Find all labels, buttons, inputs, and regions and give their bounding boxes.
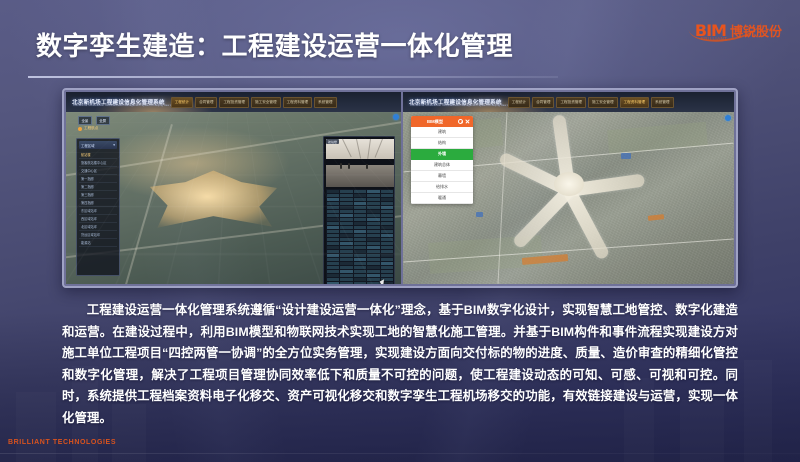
table-cell <box>340 250 352 253</box>
table-cell <box>354 230 366 233</box>
table-row <box>327 206 393 209</box>
bim-item-6[interactable]: 暖通 <box>411 193 473 204</box>
table-cell <box>367 246 379 249</box>
bim-item-1[interactable]: 结构 <box>411 138 473 149</box>
table-cell <box>381 274 393 277</box>
table-cell <box>327 222 339 225</box>
app-subtitle: The BIM for Construction Informatization… <box>73 104 178 107</box>
table-cell <box>367 194 379 197</box>
table-cell <box>354 222 366 225</box>
table-cell <box>327 254 339 257</box>
table-row <box>327 250 393 253</box>
table-cell <box>354 254 366 257</box>
data-table[interactable] <box>326 189 394 284</box>
tree-item-6[interactable]: 第四指廊 <box>79 199 117 207</box>
table-cell <box>354 266 366 269</box>
table-cell <box>354 250 366 253</box>
screenshot-right[interactable]: BIM模型 建筑结构外墙建筑总体幕墙给排水暖通 北京新机场工程建设信息化管理系统… <box>403 92 734 284</box>
table-cell <box>381 238 393 241</box>
table-cell <box>327 210 339 213</box>
tree-header: 工程区域 ▾ <box>79 141 117 149</box>
table-row <box>327 210 393 213</box>
table-cell <box>367 230 379 233</box>
table-cell <box>327 282 339 284</box>
table-cell <box>367 278 379 281</box>
table-cell <box>381 226 393 229</box>
table-cell <box>340 246 352 249</box>
table-cell <box>367 282 379 284</box>
table-cell <box>381 262 393 265</box>
table-cell <box>381 194 393 197</box>
table-cell <box>367 190 379 193</box>
chevron-down-icon[interactable]: ▾ <box>113 143 115 147</box>
table-cell <box>340 198 352 201</box>
table-cell <box>367 262 379 265</box>
table-cell <box>340 258 352 261</box>
table-row <box>327 234 393 237</box>
table-cell <box>327 226 339 229</box>
settings-icon[interactable] <box>725 115 731 121</box>
table-cell <box>354 226 366 229</box>
search-icon[interactable] <box>458 119 463 124</box>
table-cell <box>327 218 339 221</box>
table-cell <box>354 214 366 217</box>
table-cell <box>327 242 339 245</box>
table-cell <box>367 254 379 257</box>
table-cell <box>340 254 352 257</box>
table-cell <box>327 202 339 205</box>
table-row <box>327 246 393 249</box>
table-cell <box>354 270 366 273</box>
screenshot-stage: 全景 全屏 工程航点 工程区域 ▾ 航站楼旅客航站楼中心区交通中心区第一指廊第二… <box>62 88 738 288</box>
table-cell <box>381 258 393 261</box>
table-cell <box>381 198 393 201</box>
nav-item-4[interactable]: 工程资料管理 <box>620 97 650 108</box>
nav-item-5[interactable]: 系统管理 <box>314 97 336 108</box>
tree-item-9[interactable]: 北区域站坪 <box>79 223 117 231</box>
table-row <box>327 226 393 229</box>
viewport-toolbar[interactable]: 全景 全屏 <box>78 116 110 125</box>
table-cell <box>367 266 379 269</box>
table-row <box>327 238 393 241</box>
table-row <box>327 202 393 205</box>
table-cell <box>340 262 352 265</box>
tree-item-2[interactable]: 交通中心区 <box>79 167 117 175</box>
body-paragraph: 工程建设运营一体化管理系统遵循“设计建设运营一体化”理念，基于BIM数字化设计，… <box>62 300 738 429</box>
floor <box>326 165 394 187</box>
nav-item-1[interactable]: 合同管理 <box>195 97 217 108</box>
table-cell <box>327 274 339 277</box>
table-cell <box>367 198 379 201</box>
table-cell <box>381 230 393 233</box>
tree-item-3[interactable]: 第一指廊 <box>79 175 117 183</box>
table-cell <box>354 282 366 284</box>
table-cell <box>327 230 339 233</box>
table-cell <box>340 278 352 281</box>
tree-header-label: 工程区域 <box>81 143 95 148</box>
table-cell <box>354 238 366 241</box>
table-row <box>327 198 393 201</box>
table-row <box>327 262 393 265</box>
table-cell <box>340 202 352 205</box>
footer-divider <box>0 453 800 454</box>
nav-item-0[interactable]: 工程统计 <box>508 97 530 108</box>
slide-root: 数字孪生建造：工程建设运营一体化管理 BIM 博锐股份 BRILLIANT 全景… <box>0 0 800 462</box>
table-cell <box>367 258 379 261</box>
bim-panel-title: BIM模型 <box>414 119 456 125</box>
nav-item-5[interactable]: 系统管理 <box>651 97 673 108</box>
toolbar-button[interactable]: 全景 <box>78 116 92 125</box>
table-cell <box>340 210 352 213</box>
table-cell <box>340 282 352 284</box>
table-cell <box>340 222 352 225</box>
tree-item-0[interactable]: 航站楼 <box>79 151 117 159</box>
table-cell <box>367 214 379 217</box>
app-nav-left[interactable]: 工程统计合同管理工程投资管理施工安全管理工程资料管理系统管理 <box>171 97 337 108</box>
tree-item-1[interactable]: 旅客航站楼中心区 <box>79 159 117 167</box>
table-cell <box>367 238 379 241</box>
bim-item-4[interactable]: 幕墙 <box>411 171 473 182</box>
tree-item-10[interactable]: 货运区域站坪 <box>79 231 117 239</box>
table-cell <box>354 262 366 265</box>
table-cell <box>354 210 366 213</box>
table-cell <box>354 206 366 209</box>
tree-item-5[interactable]: 第三指廊 <box>79 191 117 199</box>
table-cell <box>354 274 366 277</box>
table-cell <box>340 238 352 241</box>
table-cell <box>340 218 352 221</box>
table-cell <box>354 234 366 237</box>
table-row <box>327 218 393 221</box>
table-cell <box>367 274 379 277</box>
table-cell <box>367 270 379 273</box>
model-3d-viewport[interactable]: 全景 全屏 工程航点 工程区域 ▾ 航站楼旅客航站楼中心区交通中心区第一指廊第二… <box>66 112 401 284</box>
table-cell <box>327 190 339 193</box>
title-divider <box>28 76 558 78</box>
table-cell <box>354 198 366 201</box>
table-cell <box>340 230 352 233</box>
toolbar-button[interactable]: 全屏 <box>96 116 110 125</box>
table-cell <box>381 206 393 209</box>
table-cell <box>367 206 379 209</box>
table-cell <box>340 242 352 245</box>
table-cell <box>327 206 339 209</box>
table-cell <box>367 218 379 221</box>
table-cell <box>354 202 366 205</box>
table-cell <box>340 266 352 269</box>
table-cell <box>327 194 339 197</box>
table-cell <box>340 226 352 229</box>
table-row <box>327 222 393 225</box>
table-cell <box>327 266 339 269</box>
project-tree-panel[interactable]: 工程区域 ▾ 航站楼旅客航站楼中心区交通中心区第一指廊第二指廊第三指廊第四指廊东… <box>76 138 120 276</box>
table-cell <box>381 270 393 273</box>
table-row <box>327 190 393 193</box>
table-cell <box>354 258 366 261</box>
tree-item-8[interactable]: 西区域站坪 <box>79 215 117 223</box>
table-cell <box>327 214 339 217</box>
table-cell <box>381 246 393 249</box>
table-cell <box>367 226 379 229</box>
location-pin-icon <box>78 127 82 131</box>
bim-item-0[interactable]: 建筑 <box>411 127 473 138</box>
table-row <box>327 194 393 197</box>
table-cell <box>327 262 339 265</box>
nav-item-2[interactable]: 工程投资管理 <box>219 97 249 108</box>
bim-panel-header: BIM模型 <box>411 116 473 127</box>
table-cell <box>327 234 339 237</box>
table-cell <box>381 234 393 237</box>
nav-item-4[interactable]: 工程资料管理 <box>283 97 313 108</box>
table-cell <box>381 202 393 205</box>
table-cell <box>327 278 339 281</box>
camera-data-dock[interactable]: 航站楼 <box>323 136 395 284</box>
table-cell <box>381 190 393 193</box>
app-header-left: 北京新机场工程建设信息化管理系统 The BIM for Constructio… <box>66 92 401 112</box>
table-cell <box>381 210 393 213</box>
table-cell <box>354 218 366 221</box>
table-cell <box>340 194 352 197</box>
app-header-right: 北京新机场工程建设信息化管理系统 The BIM for Constructio… <box>403 92 734 112</box>
table-cell <box>381 222 393 225</box>
brand-tagline: BRILLIANT <box>701 36 727 41</box>
table-row <box>327 270 393 273</box>
brand-logo: BIM 博锐股份 BRILLIANT <box>695 16 782 44</box>
table-row <box>327 242 393 245</box>
table-cell <box>367 234 379 237</box>
slide-header: 数字孪生建造：工程建设运营一体化管理 BIM 博锐股份 BRILLIANT <box>0 0 800 84</box>
table-row <box>327 214 393 217</box>
tree-list[interactable]: 航站楼旅客航站楼中心区交通中心区第一指廊第二指廊第三指廊第四指廊东区域站坪西区域… <box>79 151 117 247</box>
nav-item-2[interactable]: 工程投资管理 <box>556 97 586 108</box>
table-cell <box>381 214 393 217</box>
table-cell <box>367 222 379 225</box>
table-row <box>327 258 393 261</box>
table-cell <box>381 266 393 269</box>
body-paragraph-block: 工程建设运营一体化管理系统遵循“设计建设运营一体化”理念，基于BIM数字化设计，… <box>62 300 738 429</box>
table-cell <box>327 270 339 273</box>
table-cell <box>340 206 352 209</box>
table-cell <box>354 194 366 197</box>
tree-item-11[interactable]: 能源站 <box>79 239 117 247</box>
table-cell <box>367 210 379 213</box>
app-subtitle: The BIM for Construction Informatization… <box>410 104 515 107</box>
nav-item-0[interactable]: 工程统计 <box>171 97 193 108</box>
table-row <box>327 274 393 277</box>
table-cell <box>327 238 339 241</box>
table-cell <box>340 274 352 277</box>
bim-model-list[interactable]: 建筑结构外墙建筑总体幕墙给排水暖通 <box>411 127 473 204</box>
table-cell <box>381 250 393 253</box>
table-cell <box>327 250 339 253</box>
table-cell <box>327 198 339 201</box>
table-cell <box>340 214 352 217</box>
nav-item-3[interactable]: 施工安全管理 <box>588 97 618 108</box>
bim-item-5[interactable]: 给排水 <box>411 182 473 193</box>
bim-model-panel[interactable]: BIM模型 建筑结构外墙建筑总体幕墙给排水暖通 <box>411 116 473 204</box>
bim-item-3[interactable]: 建筑总体 <box>411 160 473 171</box>
nav-item-1[interactable]: 合同管理 <box>532 97 554 108</box>
breadcrumb: 工程航点 <box>78 126 98 131</box>
table-row <box>327 266 393 269</box>
table-cell <box>327 246 339 249</box>
table-cell <box>367 242 379 245</box>
table-row <box>327 254 393 257</box>
settings-icon[interactable] <box>393 114 399 120</box>
close-icon[interactable] <box>465 119 470 124</box>
table-cell <box>354 246 366 249</box>
table-cell <box>381 242 393 245</box>
screenshot-left[interactable]: 全景 全屏 工程航点 工程区域 ▾ 航站楼旅客航站楼中心区交通中心区第一指廊第二… <box>66 92 401 284</box>
table-cell <box>354 278 366 281</box>
camera-feed[interactable] <box>326 139 394 187</box>
table-cell <box>367 202 379 205</box>
footer-watermark: BRILLIANT TECHNOLOGIES <box>8 439 116 446</box>
app-nav-right[interactable]: 工程统计合同管理工程投资管理施工安全管理工程资料管理系统管理 <box>508 97 674 108</box>
tree-item-7[interactable]: 东区域站坪 <box>79 207 117 215</box>
page-title: 数字孪生建造：工程建设运营一体化管理 <box>36 26 513 63</box>
table-cell <box>340 234 352 237</box>
camera-label: 航站楼 <box>326 139 339 144</box>
table-cell <box>340 190 352 193</box>
tree-item-4[interactable]: 第二指廊 <box>79 183 117 191</box>
table-row <box>327 230 393 233</box>
breadcrumb-label: 工程航点 <box>84 126 98 131</box>
table-cell <box>340 270 352 273</box>
brand-name: 博锐股份 <box>730 21 782 40</box>
table-cell <box>381 218 393 221</box>
airport-terminal-satellite <box>489 134 649 234</box>
table-cell <box>367 250 379 253</box>
table-cell <box>381 254 393 257</box>
nav-item-3[interactable]: 施工安全管理 <box>251 97 281 108</box>
table-cell <box>354 242 366 245</box>
table-cell <box>327 258 339 261</box>
satellite-viewport[interactable]: BIM模型 建筑结构外墙建筑总体幕墙给排水暖通 <box>403 112 734 284</box>
table-cell <box>354 190 366 193</box>
bim-item-2[interactable]: 外墙 <box>411 149 473 160</box>
